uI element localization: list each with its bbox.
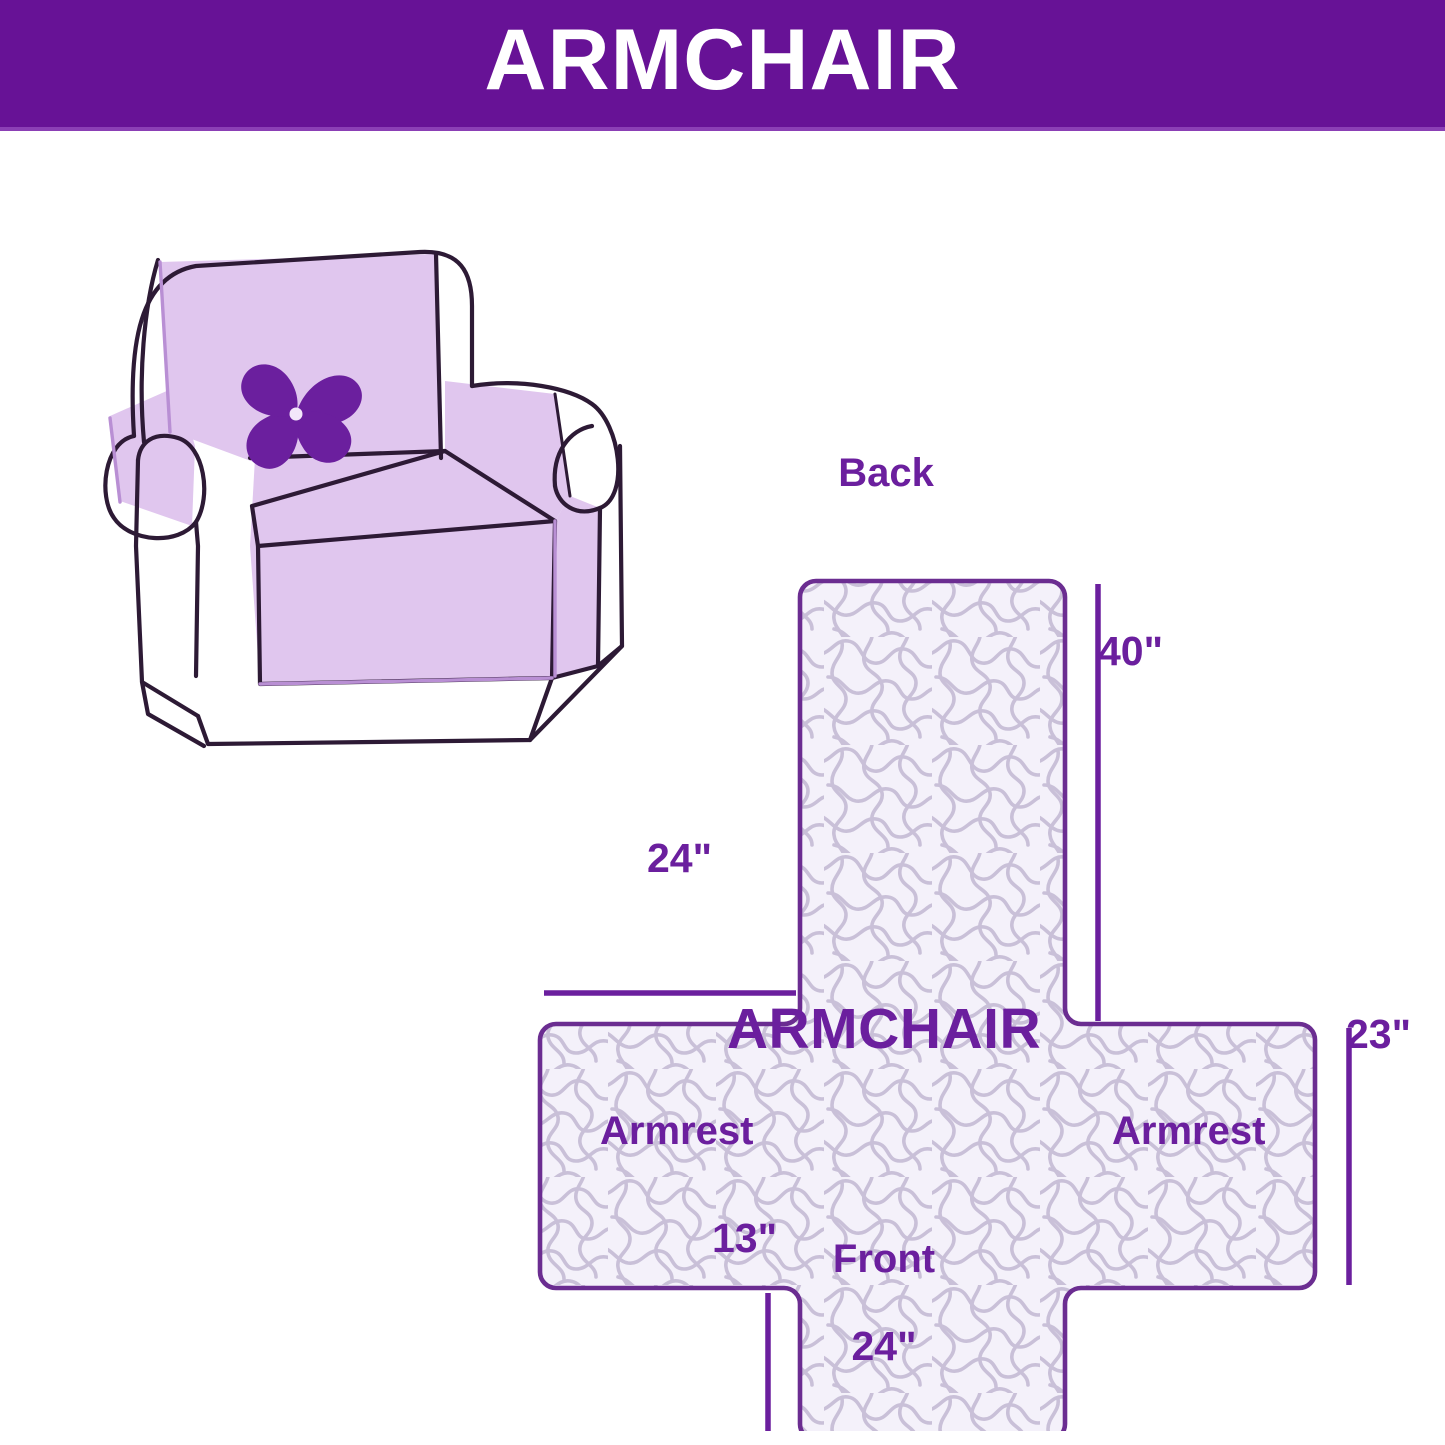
panel-label-front: Front [833, 1237, 935, 1282]
dimension-label-armrest-width: 24" [647, 835, 712, 882]
dimension-label-front-width: 24" [851, 1323, 916, 1370]
diagram-stage: Back Armrest Armrest Front ARMCHAIR 40" … [0, 131, 1445, 1445]
header-banner: ARMCHAIR [0, 0, 1445, 131]
panel-label-armrest-right: Armrest [1112, 1109, 1265, 1154]
pattern-center-label: ARMCHAIR [727, 996, 1041, 1062]
page-title: ARMCHAIR [0, 0, 1445, 127]
panel-label-armrest-left: Armrest [600, 1109, 753, 1154]
dimension-label-front-height: 13" [712, 1215, 777, 1262]
dimension-label-armrest-height: 23" [1346, 1011, 1411, 1058]
slipcover-pattern-diagram [500, 421, 1445, 1431]
panel-label-back: Back [838, 451, 934, 496]
dimension-label-back-height: 40" [1098, 628, 1163, 675]
